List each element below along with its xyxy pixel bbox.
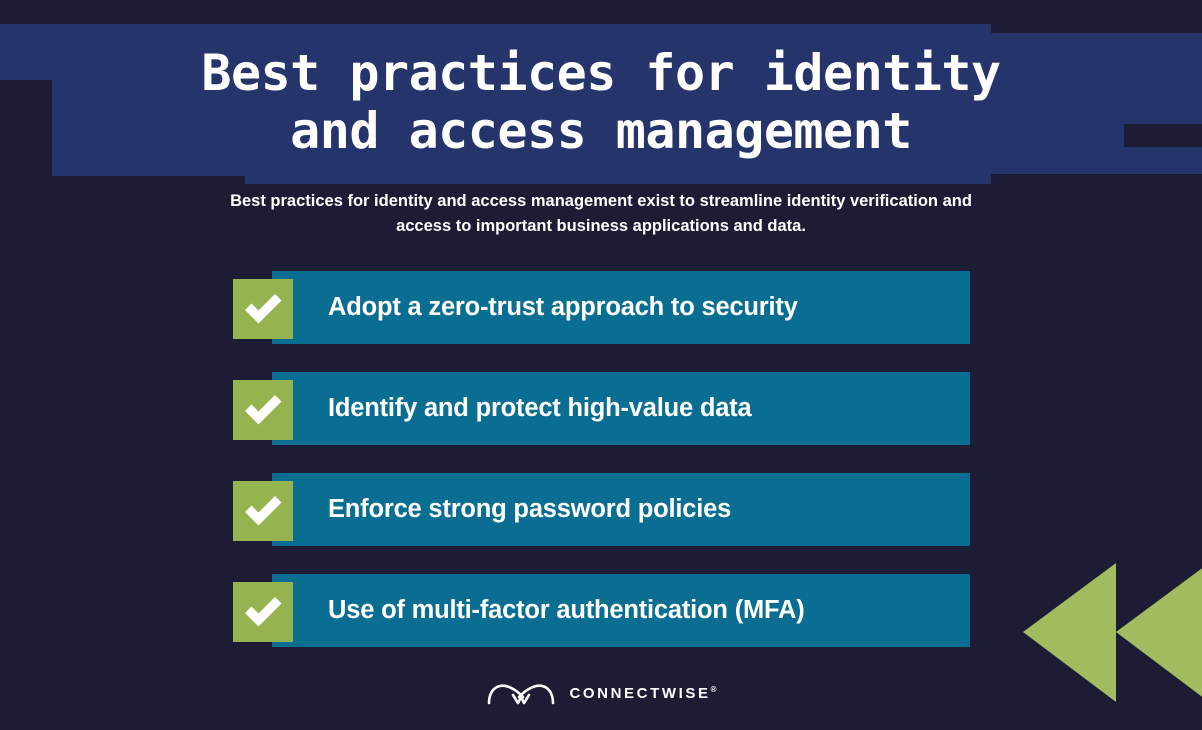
- checkmark-icon: [233, 481, 293, 541]
- connectwise-logo-text: CONNECTWISE®: [569, 685, 716, 702]
- connectwise-logo-mark: [485, 676, 557, 711]
- checklist-item[interactable]: Identify and protect high-value data: [0, 372, 1202, 445]
- checklist-item-label: Enforce strong password policies: [328, 473, 731, 546]
- checklist-item[interactable]: Adopt a zero-trust approach to security: [0, 271, 1202, 344]
- checklist-item[interactable]: Enforce strong password policies: [0, 473, 1202, 546]
- checkmark-icon: [233, 279, 293, 339]
- checkmark-icon: [233, 380, 293, 440]
- logo-wordmark: CONNECTWISE: [569, 685, 710, 702]
- checklist-item-label: Adopt a zero-trust approach to security: [328, 271, 798, 344]
- checklist-item-label: Identify and protect high-value data: [328, 372, 752, 445]
- logo-trademark: ®: [711, 685, 717, 694]
- page-title: Best practices for identity and access m…: [0, 44, 1202, 160]
- checkmark-icon: [233, 582, 293, 642]
- connectwise-logo: CONNECTWISE®: [0, 676, 1202, 711]
- checklist-item-label: Use of multi-factor authentication (MFA): [328, 574, 805, 647]
- infographic-canvas: Best practices for identity and access m…: [0, 0, 1202, 730]
- header-notch-bottom-right: [1093, 174, 1202, 200]
- page-subtitle: Best practices for identity and access m…: [201, 189, 1001, 239]
